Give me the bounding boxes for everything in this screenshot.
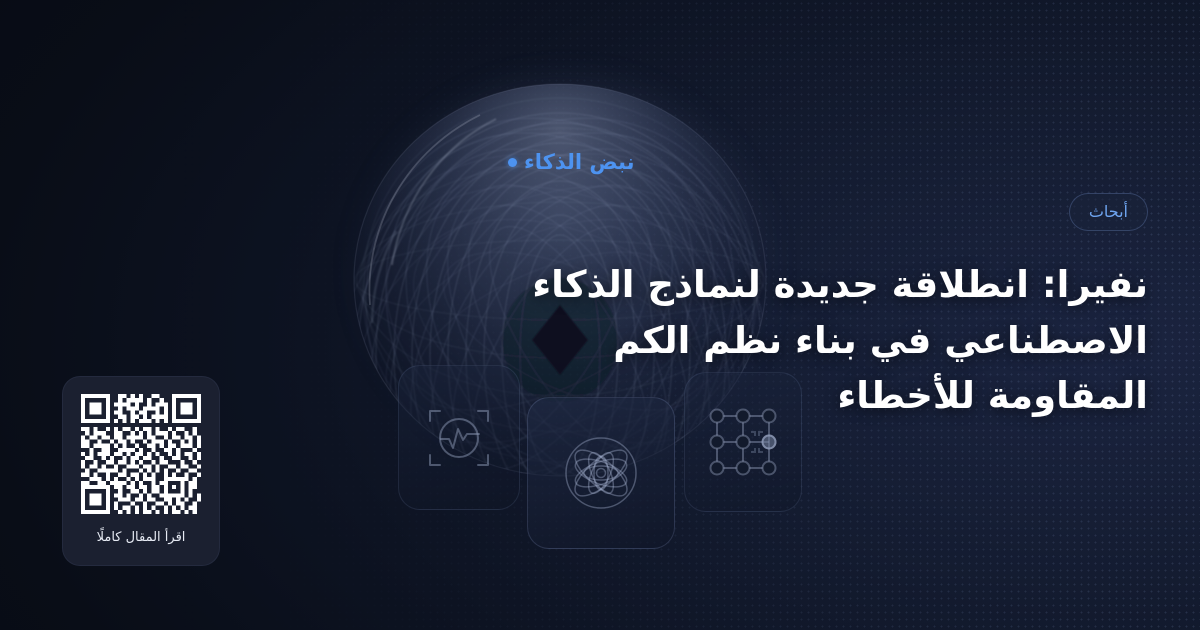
waveform-scan-card (398, 365, 520, 510)
qr-card-label: اقرأ المقال كاملًا (97, 530, 186, 545)
social-card-canvas: نبض الذكاء أبحاث نفيرا: انطلاقة جديدة لن… (0, 0, 1200, 630)
qr-code-icon (81, 394, 201, 514)
waveform-scan-icon (422, 401, 496, 475)
atomic-knot-icon (553, 425, 649, 521)
page-title: نفيرا: انطلاقة جديدة لنماذج الذكاء الاصط… (508, 257, 1148, 424)
brand-dot-icon (508, 158, 517, 167)
qr-card[interactable]: اقرأ المقال كاملًا (62, 376, 220, 566)
brand-name: نبض الذكاء (524, 150, 634, 174)
card-content: نبض الذكاء أبحاث نفيرا: انطلاقة جديدة لن… (508, 150, 1148, 424)
brand-lockup: نبض الذكاء (508, 150, 1148, 174)
category-badge[interactable]: أبحاث (1069, 193, 1148, 231)
